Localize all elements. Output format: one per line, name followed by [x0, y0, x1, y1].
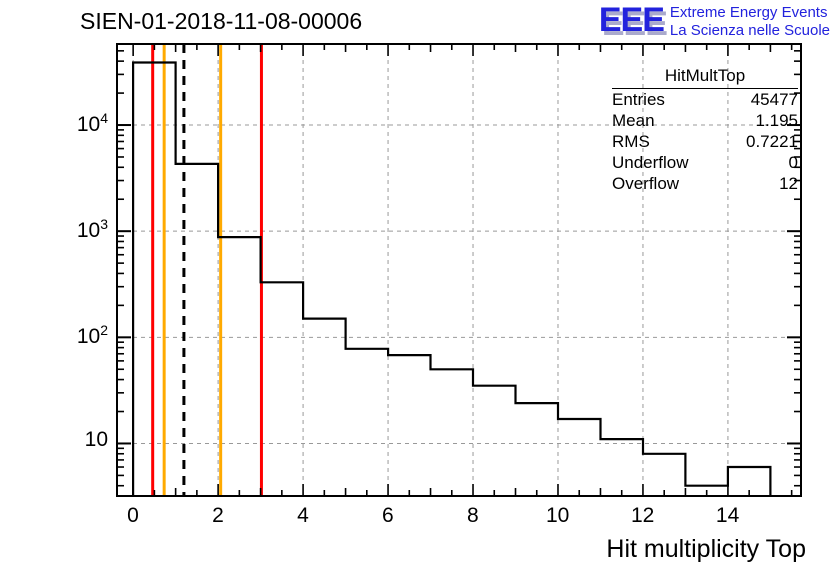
stats-row-value: 0.7221 — [746, 132, 798, 152]
marker-lines — [153, 44, 262, 496]
stats-row-value: 12 — [779, 174, 798, 194]
stats-row-value: 1.195 — [755, 111, 798, 131]
stats-row-key: Underflow — [612, 153, 689, 173]
x-tick-label: 0 — [127, 504, 139, 528]
stats-row-key: RMS — [612, 132, 650, 152]
eee-logo-mark-front: EEE — [599, 1, 664, 39]
stats-row: RMS0.7221 — [612, 131, 798, 152]
eee-logo-mark: EEE EEE — [599, 3, 664, 37]
x-tick-label: 10 — [546, 504, 569, 528]
stats-row-key: Mean — [612, 111, 655, 131]
x-tick-label: 12 — [631, 504, 654, 528]
x-tick-label: 8 — [467, 504, 479, 528]
stats-row: Entries45477 — [612, 89, 798, 110]
x-tick-label: 14 — [716, 504, 739, 528]
stats-row-key: Overflow — [612, 174, 679, 194]
stats-row: Overflow12 — [612, 173, 798, 194]
x-axis-title: Hit multiplicity Top — [606, 535, 806, 564]
stats-row: Mean1.195 — [612, 110, 798, 131]
y-tick-label: 10 — [85, 428, 108, 452]
x-tick-label: 2 — [212, 504, 224, 528]
y-tick-label: 103 — [77, 216, 108, 243]
stats-row-value: 0 — [789, 153, 798, 173]
y-tick-label: 104 — [77, 110, 108, 137]
stats-box: HitMultTop Entries45477Mean1.195RMS0.722… — [612, 66, 798, 194]
y-tick-label: 102 — [77, 322, 108, 349]
x-tick-label: 4 — [297, 504, 309, 528]
stats-row: Underflow0 — [612, 152, 798, 173]
stats-box-title: HitMultTop — [612, 66, 798, 89]
stats-row-value: 45477 — [751, 90, 798, 110]
stats-row-key: Entries — [612, 90, 665, 110]
x-tick-label: 6 — [382, 504, 394, 528]
